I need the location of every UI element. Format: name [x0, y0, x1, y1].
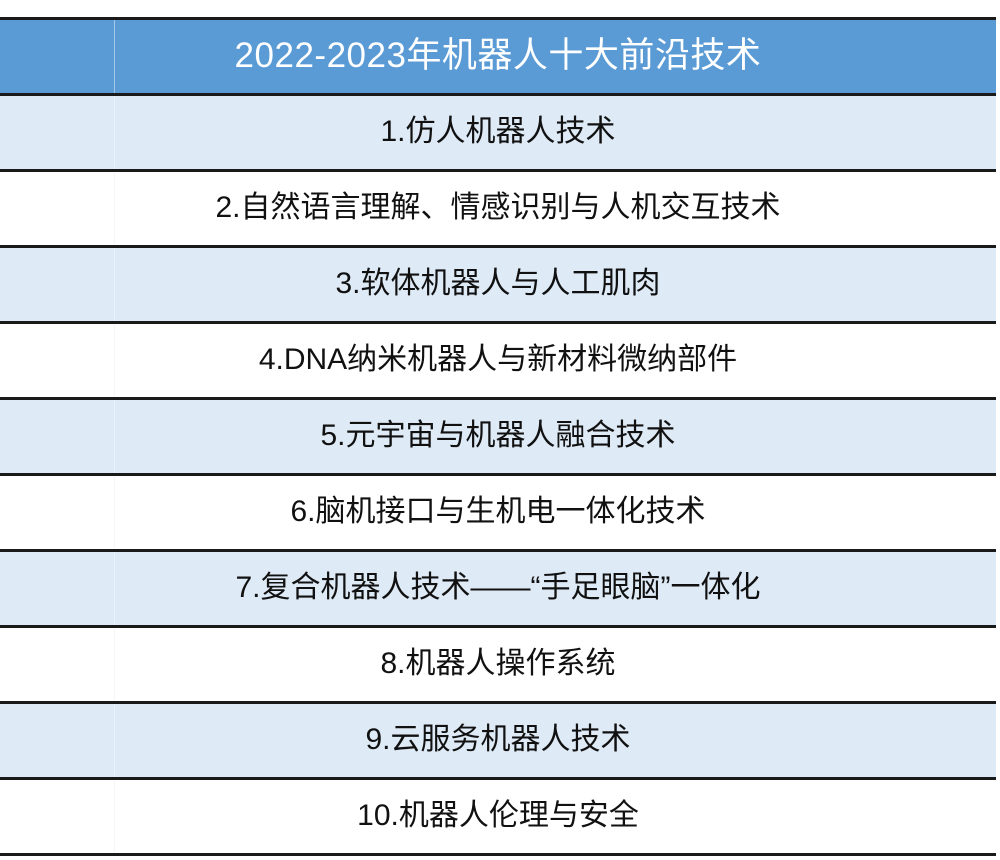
table-cell-item-2[interactable]: 2.自然语言理解、情感识别与人机交互技术 — [0, 171, 996, 247]
table-cell-item-5[interactable]: 5.元宇宙与机器人融合技术 — [0, 399, 996, 475]
table-body: 2022-2023年机器人十大前沿技术 1.仿人机器人技术 2.自然语言理解、情… — [0, 19, 996, 855]
table-cell-item-9[interactable]: 9.云服务机器人技术 — [0, 703, 996, 779]
list-item-label: 2.自然语言理解、情感识别与人机交互技术 — [0, 191, 996, 226]
page-root: 2022-2023年机器人十大前沿技术 1.仿人机器人技术 2.自然语言理解、情… — [0, 0, 1000, 860]
table-cell-item-7[interactable]: 7.复合机器人技术——“手足眼脑”一体化 — [0, 551, 996, 627]
list-item-label: 7.复合机器人技术——“手足眼脑”一体化 — [0, 571, 996, 606]
table-cell-item-6[interactable]: 6.脑机接口与生机电一体化技术 — [0, 475, 996, 551]
list-item-label: 3.软体机器人与人工肌肉 — [0, 267, 996, 302]
list-item-label: 5.元宇宙与机器人融合技术 — [0, 419, 996, 454]
table-row[interactable]: 9.云服务机器人技术 — [0, 703, 996, 779]
table-header-row: 2022-2023年机器人十大前沿技术 — [0, 19, 996, 95]
table-row[interactable]: 2.自然语言理解、情感识别与人机交互技术 — [0, 171, 996, 247]
table-row[interactable]: 5.元宇宙与机器人融合技术 — [0, 399, 996, 475]
list-item-label: 8.机器人操作系统 — [0, 647, 996, 682]
table-header-cell: 2022-2023年机器人十大前沿技术 — [0, 19, 996, 95]
table-row[interactable]: 3.软体机器人与人工肌肉 — [0, 247, 996, 323]
table-cell-item-10[interactable]: 10.机器人伦理与安全 — [0, 779, 996, 855]
page-title: 2022-2023年机器人十大前沿技术 — [0, 37, 996, 76]
table-row[interactable]: 6.脑机接口与生机电一体化技术 — [0, 475, 996, 551]
table-row[interactable]: 8.机器人操作系统 — [0, 627, 996, 703]
list-item-label: 4.DNA纳米机器人与新材料微纳部件 — [0, 343, 996, 378]
table-cell-item-4[interactable]: 4.DNA纳米机器人与新材料微纳部件 — [0, 323, 996, 399]
table-cell-item-3[interactable]: 3.软体机器人与人工肌肉 — [0, 247, 996, 323]
list-item-label: 10.机器人伦理与安全 — [0, 799, 996, 834]
list-item-label: 9.云服务机器人技术 — [0, 723, 996, 758]
table-row[interactable]: 1.仿人机器人技术 — [0, 95, 996, 171]
table-row[interactable]: 10.机器人伦理与安全 — [0, 779, 996, 855]
table-row[interactable]: 4.DNA纳米机器人与新材料微纳部件 — [0, 323, 996, 399]
table-row[interactable]: 7.复合机器人技术——“手足眼脑”一体化 — [0, 551, 996, 627]
list-item-label: 1.仿人机器人技术 — [0, 115, 996, 150]
list-item-label: 6.脑机接口与生机电一体化技术 — [0, 495, 996, 530]
table-cell-item-1[interactable]: 1.仿人机器人技术 — [0, 95, 996, 171]
top-robot-technologies-table: 2022-2023年机器人十大前沿技术 1.仿人机器人技术 2.自然语言理解、情… — [0, 17, 996, 856]
table-cell-item-8[interactable]: 8.机器人操作系统 — [0, 627, 996, 703]
